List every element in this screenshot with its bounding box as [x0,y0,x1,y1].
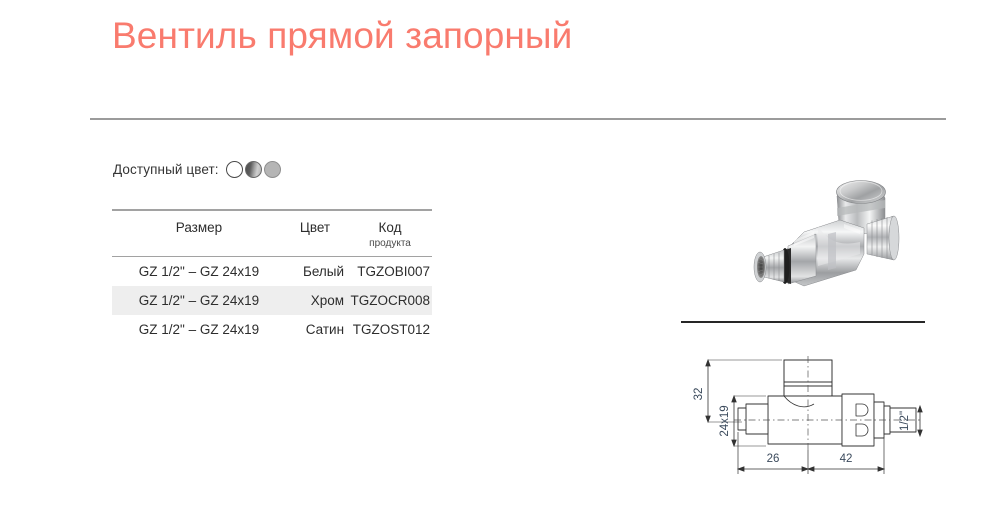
table-header: Размер Цвет Код продукта [112,210,432,257]
color-swatch-satin-icon[interactable] [264,161,281,178]
dimension-label-thread: 1/2" [899,411,911,431]
cell-color: Хром [286,286,350,315]
color-availability: Доступный цвет: [113,161,281,178]
cell-size: GZ 1/2" – GZ 24x19 [112,257,286,287]
cell-code: TGZOCR008 [350,286,432,315]
page-title: Вентиль прямой запорный [112,14,572,58]
table-header-row: Размер Цвет Код продукта [112,210,432,257]
color-swatch-group [226,161,281,178]
product-datasheet-page: Вентиль прямой запорный Доступный цвет: … [0,0,1000,524]
product-photo [744,150,940,306]
technical-drawing: 32 24x19 1/2" [680,352,934,480]
cell-code: TGZOBI007 [350,257,432,287]
column-header-code: Код продукта [350,210,432,257]
cell-color: Сатин [286,315,350,344]
dimension-label-connection: 24x19 [719,405,731,436]
column-header-size: Размер [112,210,286,257]
table-row[interactable]: GZ 1/2" – GZ 24x19 Сатин TGZOST012 [112,315,432,344]
column-header-code-stack: Код продукта [350,220,430,249]
table-row[interactable]: GZ 1/2" – GZ 24x19 Хром TGZOCR008 [112,286,432,315]
specification-table: Размер Цвет Код продукта GZ 1/2" – GZ 24… [112,209,432,344]
column-header-code-label: Код [379,220,402,236]
cell-code: TGZOST012 [350,315,432,344]
dimension-label-height: 32 [693,388,705,401]
header-divider [90,118,946,120]
table-row[interactable]: GZ 1/2" – GZ 24x19 Белый TGZOBI007 [112,257,432,287]
table-body: GZ 1/2" – GZ 24x19 Белый TGZOBI007 GZ 1/… [112,257,432,345]
drawing-divider [681,321,925,323]
color-swatch-chrome-icon[interactable] [245,161,262,178]
cell-size: GZ 1/2" – GZ 24x19 [112,286,286,315]
product-photo-image [744,150,940,306]
technical-drawing-image: 32 24x19 1/2" [680,352,934,480]
column-header-color: Цвет [286,210,350,257]
dimension-label-length-left: 26 [767,453,780,465]
dimension-label-length-right: 42 [840,453,853,465]
column-header-code-sublabel: продукта [369,238,411,250]
color-availability-label: Доступный цвет: [113,162,219,177]
color-swatch-white-icon[interactable] [226,161,243,178]
column-header-size-label: Размер [176,220,222,235]
cell-color: Белый [286,257,350,287]
cell-size: GZ 1/2" – GZ 24x19 [112,315,286,344]
column-header-color-label: Цвет [300,220,330,235]
